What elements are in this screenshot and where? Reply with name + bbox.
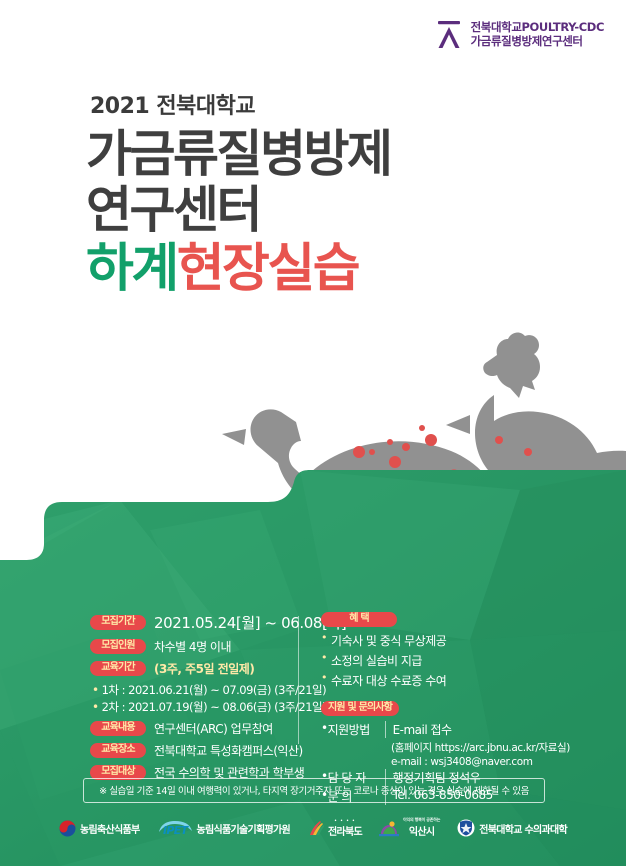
contact-row-apply-method: • 지원방법 E-mail 접수 [321, 721, 626, 738]
iksan-city-icon [379, 820, 399, 837]
brand-text: 전북대학교POULTRY-CDC 가금류질병방제연구센터 [471, 20, 604, 48]
value-training-place: 전북대학교 특성화캠퍼스(익산) [154, 742, 303, 759]
notice-box: ※ 실습일 기준 14일 이내 여행력이 있거나, 타지역 장기거주자 또는 코… [83, 778, 545, 803]
schedule-text-2: 2차 : 2021.07.19(월) ~ 08.06(금) (3주/21일) [102, 700, 327, 714]
footer-logo-ipet-label: 농림식품기술기획평가원 [197, 821, 291, 836]
brand-line-2: 가금류질병방제연구센터 [471, 34, 604, 48]
headline-accent-red: 현장실습 [177, 239, 358, 299]
ipet-logo-icon: IPET [157, 820, 193, 836]
headline-accent-green: 하계 [86, 239, 177, 299]
footer-logo-iksan-stack: 이익의 행복이 공존하는 익산시 [403, 818, 440, 838]
benefit-text-1: 기숙사 및 중식 무상제공 [331, 632, 446, 649]
info-row-training-period: 교육기간 (3주, 주5일 전일제) [90, 660, 298, 677]
footer-logo-jeonbuk: • • • • 전라북도 [307, 819, 362, 838]
headline-block: 2021 전북대학교 가금류질병방제 연구센터 하계현장실습 [86, 88, 556, 299]
contact-sub-email[interactable]: e-mail : wsj3408@naver.com [391, 756, 626, 768]
value-training-content: 연구센터(ARC) 업무참여 [154, 720, 273, 737]
jbnu-vet-shield-icon [457, 819, 475, 837]
info-columns: 모집기간 2021.05.24[월] ~ 06.08[화] 모집인원 차수별 4… [0, 612, 626, 772]
headline-accent-line: 하계현장실습 [86, 240, 556, 299]
benefit-item-1: •기숙사 및 중식 무상제공 [321, 632, 626, 649]
jbnu-person-mark-icon [434, 18, 464, 50]
poster-root: 전북대학교POULTRY-CDC 가금류질병방제연구센터 2021 전북대학교 … [0, 0, 626, 866]
label-recruit-count: 모집인원 [90, 639, 146, 654]
info-row-recruit-count: 모집인원 차수별 4명 이내 [90, 638, 298, 655]
benefit-text-2: 소정의 실습비 지급 [331, 652, 422, 669]
schedule-item-2: •2차 : 2021.07.19(월) ~ 08.06(금) (3주/21일) [92, 699, 298, 715]
bullet-dot-icon: • [321, 721, 328, 735]
value-recruit-count: 차수별 4명 이내 [154, 638, 231, 655]
label-recruit-period: 모집기간 [90, 615, 146, 630]
label-training-content: 교육내용 [90, 721, 146, 736]
info-row-training-content: 교육내용 연구센터(ARC) 업무참여 [90, 720, 298, 737]
bullet-dot-icon: • [92, 700, 99, 714]
headline-line-2: 연구센터 [86, 182, 556, 238]
info-right-column: 혜 택 •기숙사 및 중식 무상제공 •소정의 실습비 지급 •수료자 대상 수… [299, 612, 626, 772]
info-row-training-place: 교육장소 전북대학교 특성화캠퍼스(익산) [90, 742, 298, 759]
label-training-place: 교육장소 [90, 743, 146, 758]
footer-logo-jeonbuk-label: 전라북도 [328, 823, 362, 838]
benefit-text-3: 수료자 대상 수료증 수여 [331, 672, 446, 689]
mafra-taegeuk-icon [59, 820, 76, 837]
bullet-dot-icon: • [321, 652, 327, 664]
footer-logo-iksan: 이익의 행복이 공존하는 익산시 [379, 818, 440, 838]
brand-logo: 전북대학교POULTRY-CDC 가금류질병방제연구센터 [434, 18, 604, 50]
headline-eyebrow: 2021 전북대학교 [90, 88, 556, 120]
schedule-item-1: •1차 : 2021.06.21(월) ~ 07.09(금) (3주/21일) [92, 682, 298, 698]
contact-key-apply-method: 지원방법 [328, 721, 386, 738]
contact-heading-row: 지원 및 문의사항 [321, 701, 626, 716]
jeonbuk-ribbon-icon [307, 820, 324, 837]
info-left-column: 모집기간 2021.05.24[월] ~ 06.08[화] 모집인원 차수별 4… [0, 612, 298, 772]
footer-logo-iksan-sub: 이익의 행복이 공존하는 [403, 818, 440, 822]
contact-sub-homepage[interactable]: (홈페이지 https://arc.jbnu.ac.kr/자료실) [391, 740, 626, 755]
benefits-heading-row: 혜 택 [321, 612, 626, 627]
benefit-item-2: •소정의 실습비 지급 [321, 652, 626, 669]
footer-logo-jbnu-vet: 전북대학교 수의과대학 [457, 819, 567, 837]
benefit-item-3: •수료자 대상 수료증 수여 [321, 672, 626, 689]
footer-logos: 농림축산식품부 IPET 농림식품기술기획평가원 • • • • 전라북도 [0, 818, 626, 838]
bullet-dot-icon: • [321, 632, 327, 644]
info-row-recruit-period: 모집기간 2021.05.24[월] ~ 06.08[화] [90, 612, 298, 633]
value-training-period: (3주, 주5일 전일제) [154, 660, 254, 677]
headline-line-1: 가금류질병방제 [86, 126, 556, 182]
footer-logo-jbnu-vet-label: 전북대학교 수의과대학 [479, 821, 567, 836]
footer-logo-ipet: IPET 농림식품기술기획평가원 [157, 820, 291, 836]
contact-value-apply-method: E-mail 접수 [393, 721, 626, 738]
footer-logo-mafra-label: 농림축산식품부 [80, 821, 140, 836]
label-benefits: 혜 택 [321, 612, 397, 627]
bullet-dot-icon: • [92, 683, 99, 697]
svg-text:IPET: IPET [163, 824, 190, 836]
footer-logo-iksan-label: 익산시 [409, 823, 435, 838]
footer-logo-jeonbuk-stack: • • • • 전라북도 [328, 819, 362, 838]
label-training-period: 교육기간 [90, 661, 146, 676]
bullet-dot-icon: • [321, 672, 327, 684]
schedule-text-1: 1차 : 2021.06.21(월) ~ 07.09(금) (3주/21일) [102, 683, 327, 697]
footer-logo-mafra: 농림축산식품부 [59, 820, 140, 837]
label-contact: 지원 및 문의사항 [321, 701, 399, 716]
brand-line-1: 전북대학교POULTRY-CDC [471, 20, 604, 34]
